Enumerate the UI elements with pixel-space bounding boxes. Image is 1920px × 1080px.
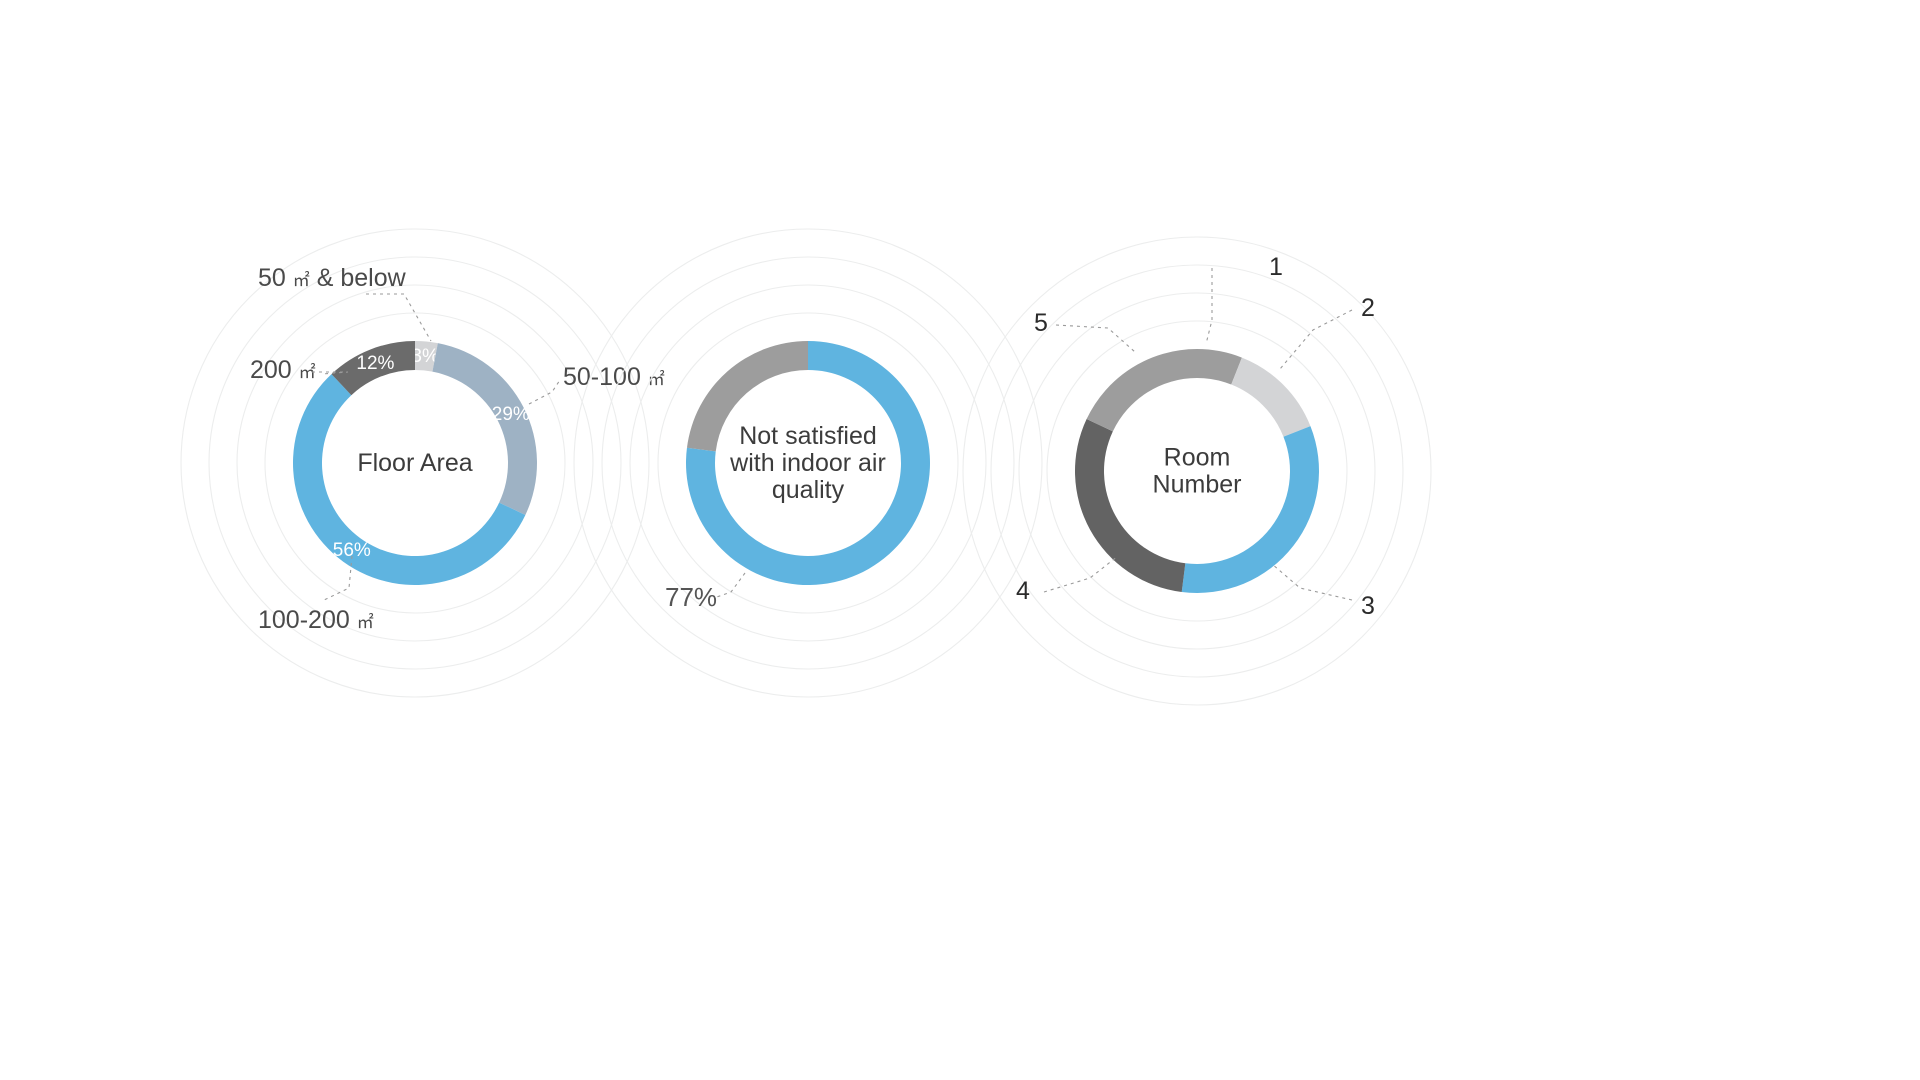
donut-segment-2[interactable] [1231,358,1310,437]
halo-ring-3 [991,265,1403,677]
halo-ring-4 [963,237,1431,705]
infographic-canvas: 3%29%56%12%Floor Area50 ㎡ & below200 ㎡50… [0,0,1920,1080]
segment-percent-label: 29% [492,404,530,425]
halo-ring-2 [1019,293,1375,649]
donut-segment-3[interactable] [1182,426,1319,593]
donut-chart-room-number [937,211,1457,731]
donut-segment-4[interactable] [1075,419,1185,592]
donut-segment-remainder[interactable] [687,341,808,451]
segment-percent-label: 12% [356,353,394,374]
halo-ring-2 [630,285,986,641]
donut-segment-50-100[interactable] [432,343,537,515]
donut-segment-5[interactable] [1087,349,1197,431]
segment-percent-label: 56% [333,540,371,561]
halo-ring-2 [237,285,593,641]
